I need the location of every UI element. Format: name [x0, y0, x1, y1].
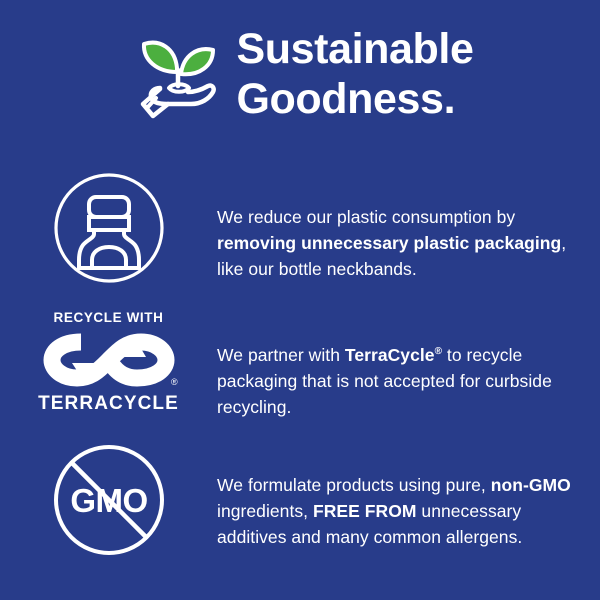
feature-row-plastic-reduction: We reduce our plastic consumption by rem…	[0, 172, 600, 299]
text-column: We reduce our plastic consumption by rem…	[217, 172, 600, 299]
feature-row-non-gmo: GMO We formulate products using pure, no…	[0, 444, 600, 567]
terracycle-wordmark: TERRACYCLE	[38, 393, 179, 415]
feature-text-plastic-reduction: We reduce our plastic consumption by rem…	[217, 204, 586, 282]
header-title: Sustainable Goodness.	[237, 24, 474, 124]
bottle-neckband-circle-icon	[53, 172, 165, 284]
terracycle-caption: RECYCLE WITH	[54, 310, 164, 326]
gmo-label: GMO	[70, 482, 147, 519]
text-part: We reduce our plastic consumption by	[217, 207, 515, 227]
feature-text-terracycle: We partner with TerraCycle® to recycle p…	[217, 342, 586, 420]
text-part-bold: non-GMO	[491, 475, 571, 495]
text-part: ingredients,	[217, 501, 313, 521]
text-part-bold: removing unnecessary plastic packaging	[217, 233, 561, 253]
no-gmo-circle-icon: GMO	[53, 444, 165, 556]
terracycle-logo: RECYCLE WITH ® TERRACYCLE	[34, 310, 184, 415]
feature-row-terracycle: RECYCLE WITH ® TERRACYCLE	[0, 310, 600, 437]
icon-column: GMO	[0, 444, 217, 556]
text-part-bold: TerraCycle	[345, 345, 435, 365]
header-title-line-1: Sustainable	[237, 24, 474, 74]
registered-trademark-symbol: ®	[171, 377, 178, 387]
feature-text-non-gmo: We formulate products using pure, non-GM…	[217, 472, 586, 550]
text-column: We partner with TerraCycle® to recycle p…	[217, 310, 600, 437]
header-title-line-2: Goodness.	[237, 74, 474, 124]
text-part-bold: FREE FROM	[313, 501, 417, 521]
text-part: We formulate products using pure,	[217, 475, 491, 495]
hand-holding-sprout-icon	[127, 28, 231, 132]
registered-trademark-symbol: ®	[435, 346, 442, 357]
sustainability-infographic: Sustainable Goodness.	[0, 0, 600, 600]
text-column: We formulate products using pure, non-GM…	[217, 444, 600, 567]
infinity-arrows-icon: ®	[40, 329, 178, 391]
header: Sustainable Goodness.	[0, 22, 600, 142]
icon-column	[0, 172, 217, 284]
icon-column: RECYCLE WITH ® TERRACYCLE	[0, 310, 217, 415]
text-part: We partner with	[217, 345, 345, 365]
